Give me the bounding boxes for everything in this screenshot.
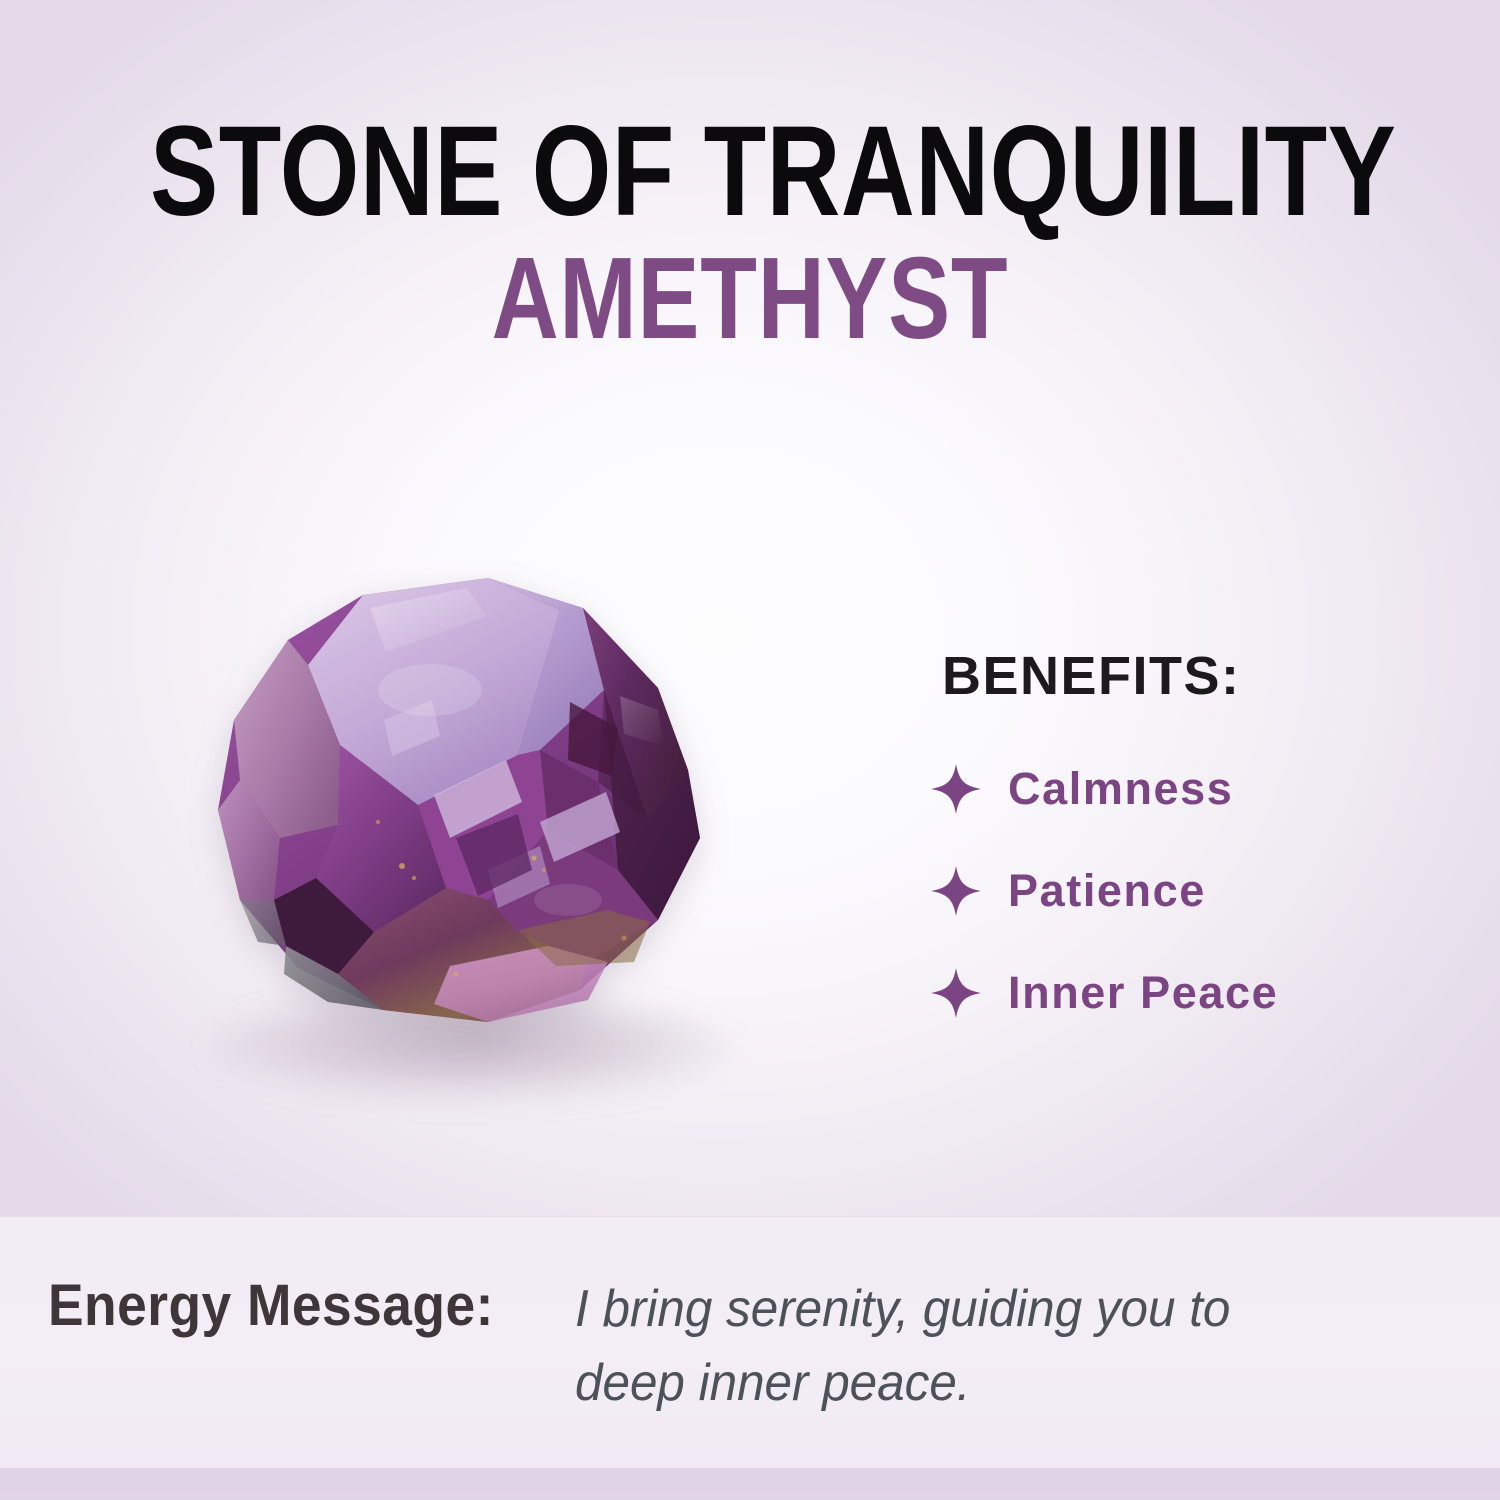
benefit-label: Calmness [1008,763,1233,815]
benefits-heading: BENEFITS: [942,645,1450,707]
amethyst-info-poster: STONE OF TRANQUILITY AMETHYST [0,0,1500,1500]
energy-message-row: Energy Message: I bring serenity, guidin… [48,1273,1452,1421]
sparkle-star-icon [930,763,982,815]
poster-header: STONE OF TRANQUILITY AMETHYST [0,0,1500,349]
energy-message-panel: Energy Message: I bring serenity, guidin… [0,1216,1500,1469]
benefit-label: Inner Peace [1008,967,1278,1019]
benefit-label: Patience [1008,865,1206,917]
crystal-image-container [150,540,810,1140]
benefits-section: BENEFITS: Calmness Patience Inner Peace [930,645,1450,1065]
page-subtitle-stone-name: AMETHYST [150,247,1350,349]
energy-message-label: Energy Message: [48,1273,494,1335]
sparkle-star-icon [930,865,982,917]
benefit-item-patience: Patience [930,861,1450,921]
energy-message-text: I bring serenity, guiding you to deep in… [575,1273,1297,1421]
bottom-accent-bar [0,1468,1500,1500]
page-title: STONE OF TRANQUILITY [150,120,1350,225]
benefit-item-calmness: Calmness [930,759,1450,819]
amethyst-crystal-icon [188,570,756,1070]
benefit-item-inner-peace: Inner Peace [930,963,1450,1023]
sparkle-star-icon [930,967,982,1019]
